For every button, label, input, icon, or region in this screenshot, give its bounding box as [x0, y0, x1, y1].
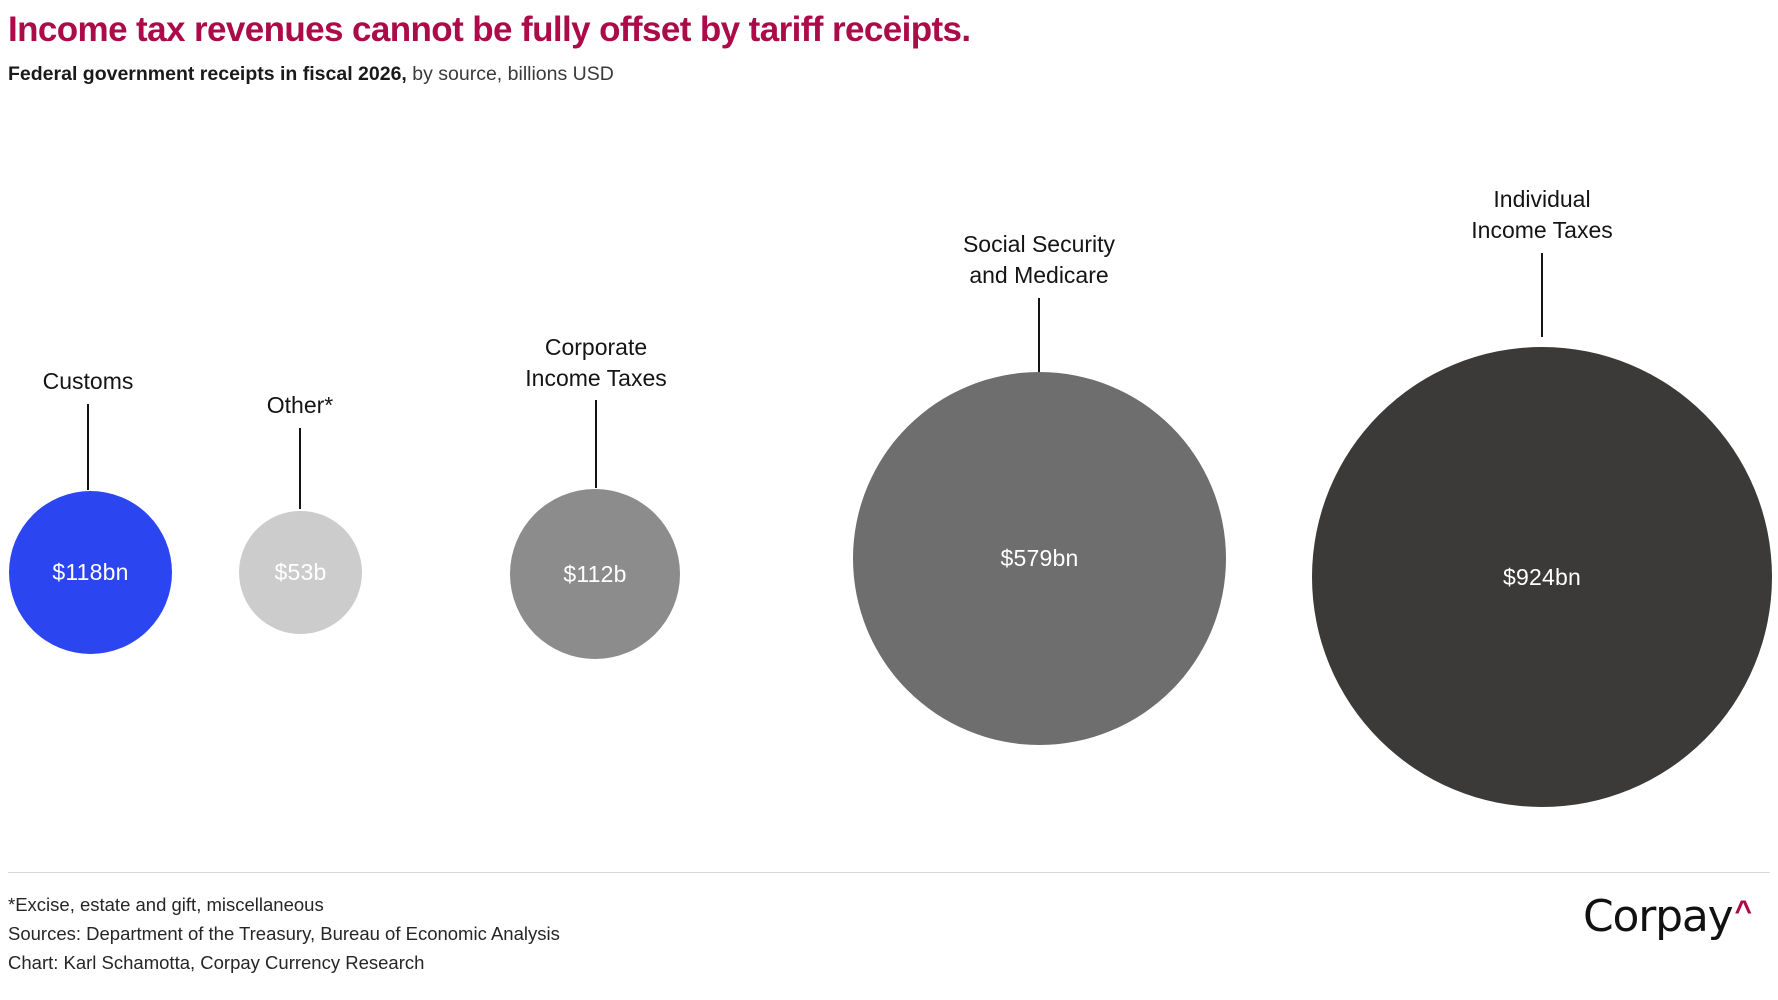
bubble-label-social-security-line1: Social Security: [963, 229, 1115, 260]
bubble-label-corporate-line2: Income Taxes: [525, 363, 666, 394]
bubble-value-social-security: $579bn: [1001, 545, 1079, 572]
bubble-label-corporate-line1: Corporate: [525, 332, 666, 363]
footer-divider: [8, 872, 1770, 873]
bubble-chart-plot: Customs $118bn Other* $53b Corporate Inc…: [0, 0, 1778, 870]
bubble-value-other: $53b: [275, 559, 327, 586]
bubble-label-social-security: Social Security and Medicare: [963, 229, 1115, 290]
bubble-customs[interactable]: $118bn: [9, 491, 172, 654]
bubble-value-individual: $924bn: [1503, 564, 1581, 591]
bubble-corporate[interactable]: $112b: [510, 489, 680, 659]
footnote-credit: Chart: Karl Schamotta, Corpay Currency R…: [8, 948, 560, 977]
corpay-logo-wordmark: Corpay: [1583, 895, 1732, 939]
bubble-individual[interactable]: $924bn: [1312, 347, 1772, 807]
leader-line-individual: [1541, 253, 1543, 337]
bubble-label-other: Other*: [267, 390, 333, 421]
footnotes: *Excise, estate and gift, miscellaneous …: [8, 890, 560, 978]
bubble-value-customs: $118bn: [52, 559, 128, 586]
footnote-asterisk: *Excise, estate and gift, miscellaneous: [8, 890, 560, 919]
leader-line-customs: [87, 404, 89, 490]
bubble-other[interactable]: $53b: [239, 511, 362, 634]
bubble-value-corporate: $112b: [563, 561, 626, 588]
bubble-label-individual: Individual Income Taxes: [1471, 184, 1612, 245]
footnote-sources: Sources: Department of the Treasury, Bur…: [8, 919, 560, 948]
bubble-label-customs: Customs: [43, 366, 134, 397]
leader-line-corporate: [595, 400, 597, 488]
corpay-logo: Corpay ^: [1583, 895, 1752, 939]
bubble-label-customs-line1: Customs: [43, 366, 134, 397]
bubble-label-corporate: Corporate Income Taxes: [525, 332, 666, 393]
leader-line-social-security: [1038, 298, 1040, 375]
bubble-social-security[interactable]: $579bn: [853, 372, 1226, 745]
corpay-caret-icon: ^: [1734, 897, 1752, 927]
bubble-label-individual-line2: Income Taxes: [1471, 215, 1612, 246]
leader-line-other: [299, 428, 301, 509]
bubble-label-other-line1: Other*: [267, 390, 333, 421]
bubble-label-social-security-line2: and Medicare: [963, 260, 1115, 291]
bubble-label-individual-line1: Individual: [1471, 184, 1612, 215]
